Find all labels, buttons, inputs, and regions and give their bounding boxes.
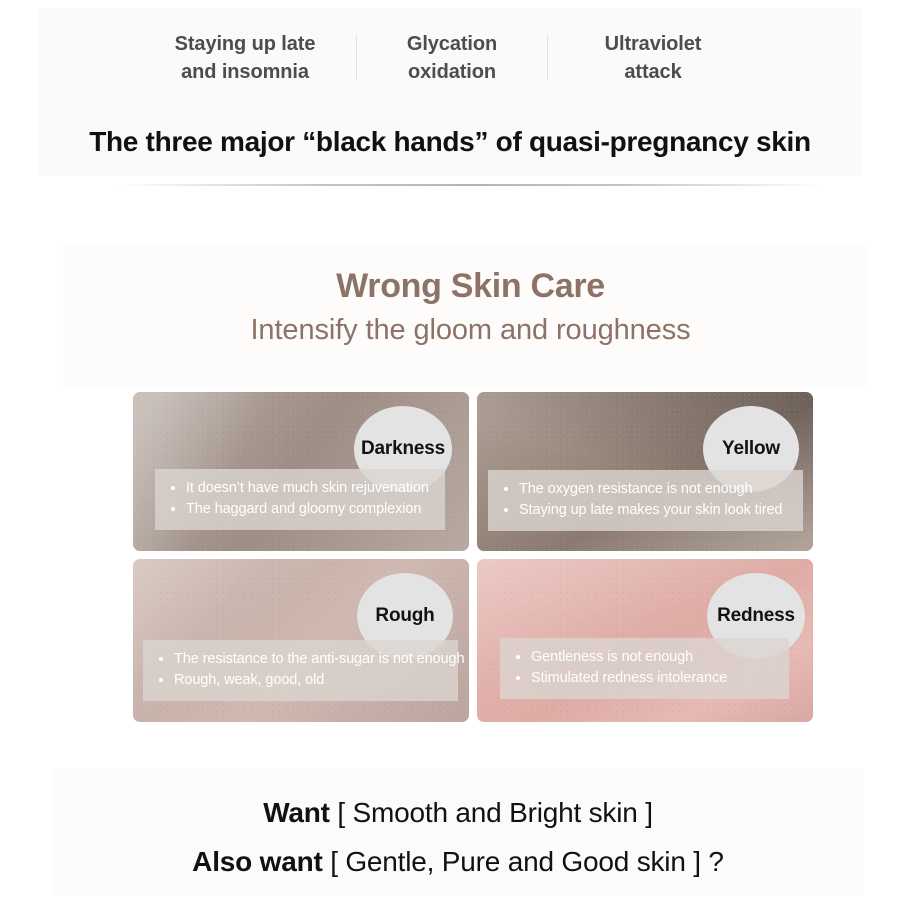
page-title: The three major “black hands” of quasi-p… xyxy=(89,126,811,158)
want-line-2-rest: [ Gentle, Pure and Good skin ] ? xyxy=(323,846,724,877)
cause-item-2-line2: oxidation xyxy=(371,58,533,86)
caption-rough: The resistance to the anti-sugar is not … xyxy=(143,640,458,701)
section-title: Wrong Skin Care xyxy=(63,266,878,306)
caption-list-darkness: It doesn’t have much skin rejuvenation T… xyxy=(169,479,431,519)
want-line-1-lead: Want xyxy=(263,797,330,828)
skin-problem-card-redness[interactable]: Redness Gentleness is not enough Stimula… xyxy=(477,559,813,722)
want-line-1-rest: [ Smooth and Bright skin ] xyxy=(330,797,653,828)
wrong-skin-care-heading-group: Wrong Skin Care Intensify the gloom and … xyxy=(63,245,878,348)
cause-item-1-line2: and insomnia xyxy=(148,58,342,86)
skin-problem-card-yellow[interactable]: Yellow The oxygen resistance is not enou… xyxy=(477,392,813,551)
want-line-2: Also want [ Gentle, Pure and Good skin ]… xyxy=(52,848,864,876)
cause-item-3: Ultraviolet attack xyxy=(548,30,758,87)
cause-item-2-line1: Glycation xyxy=(371,30,533,58)
list-item: Stimulated redness intolerance xyxy=(514,669,775,688)
list-item: It doesn’t have much skin rejuvenation xyxy=(169,479,431,498)
want-line-2-lead: Also want xyxy=(192,846,322,877)
list-item: The haggard and gloomy complexion xyxy=(169,500,431,519)
caption-yellow: The oxygen resistance is not enough Stay… xyxy=(488,470,803,531)
causes-row: Staying up late and insomnia Glycation o… xyxy=(38,8,862,108)
want-line-1: Want [ Smooth and Bright skin ] xyxy=(52,799,864,827)
headline-band: The three major “black hands” of quasi-p… xyxy=(38,108,862,176)
list-item: Rough, weak, good, old xyxy=(157,671,444,690)
caption-darkness: It doesn’t have much skin rejuvenation T… xyxy=(155,469,445,530)
list-item: The oxygen resistance is not enough xyxy=(502,480,789,499)
skin-problem-card-darkness[interactable]: Darkness It doesn’t have much skin rejuv… xyxy=(133,392,469,551)
list-item: The resistance to the anti-sugar is not … xyxy=(157,650,444,669)
list-item: Staying up late makes your skin look tir… xyxy=(502,501,789,520)
cause-item-1-line1: Staying up late xyxy=(148,30,342,58)
caption-list-rough: The resistance to the anti-sugar is not … xyxy=(157,650,444,690)
skin-problem-card-rough[interactable]: Rough The resistance to the anti-sugar i… xyxy=(133,559,469,722)
list-item: Gentleness is not enough xyxy=(514,648,775,667)
want-text-group: Want [ Smooth and Bright skin ] Also wan… xyxy=(52,768,864,876)
cause-item-3-line1: Ultraviolet xyxy=(562,30,744,58)
caption-list-redness: Gentleness is not enough Stimulated redn… xyxy=(514,648,775,688)
cause-item-2: Glycation oxidation xyxy=(357,30,547,87)
cause-item-3-line2: attack xyxy=(562,58,744,86)
skin-problem-card-grid: Darkness It doesn’t have much skin rejuv… xyxy=(133,392,808,722)
cause-item-1: Staying up late and insomnia xyxy=(134,30,356,87)
headline-divider xyxy=(118,184,824,186)
caption-redness: Gentleness is not enough Stimulated redn… xyxy=(500,638,789,699)
caption-list-yellow: The oxygen resistance is not enough Stay… xyxy=(502,480,789,520)
section-subtitle: Intensify the gloom and roughness xyxy=(63,313,878,348)
